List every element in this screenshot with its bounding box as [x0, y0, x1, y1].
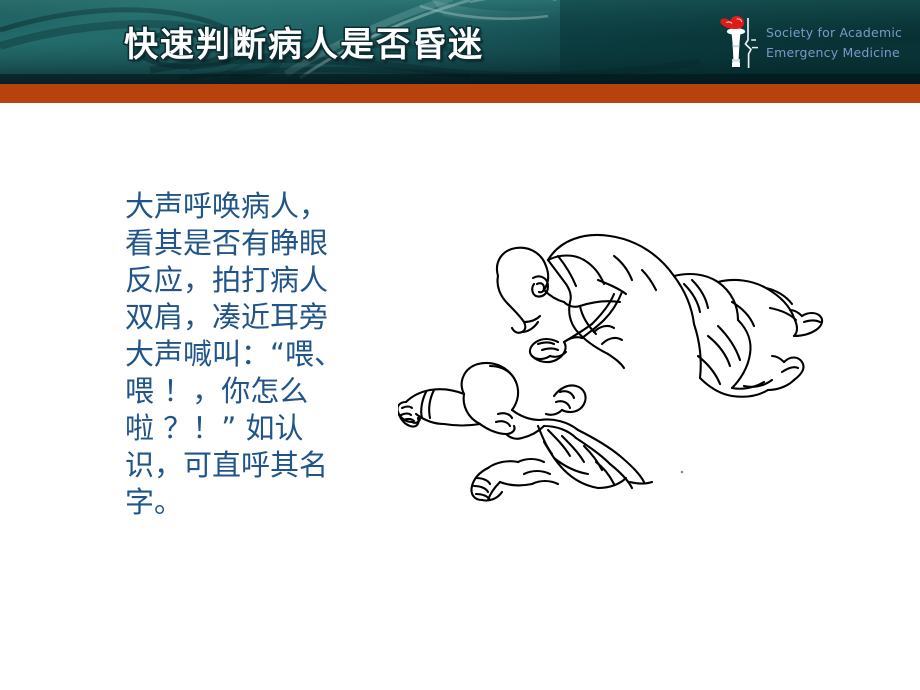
- logo-line-2: Emergency Medicine: [766, 43, 906, 63]
- slide-canvas: 快速判断病人是否昏迷 Society for Academic: [0, 0, 920, 690]
- logo-line-1: Society for Academic: [766, 23, 906, 43]
- body-line: 大声呼唤病人，: [125, 188, 347, 225]
- body-line: 字。: [125, 484, 347, 521]
- body-line: 反应，拍打病人: [125, 262, 347, 299]
- rescuer-line-art-svg: [398, 226, 834, 516]
- slide-header-band: 快速判断病人是否昏迷 Society for Academic: [0, 0, 920, 84]
- logo-wordmark: Society for Academic Emergency Medicine: [766, 23, 906, 63]
- body-line: 大声喊叫：“喂、: [125, 336, 347, 373]
- rescuer-checking-responsiveness-illustration: [398, 226, 834, 516]
- page-title: 快速判断病人是否昏迷: [124, 23, 684, 69]
- body-line: 双肩，凑近耳旁: [125, 299, 347, 336]
- torch-ecg-logo-icon: [706, 14, 766, 72]
- body-line: 识，可直呼其名: [125, 447, 347, 484]
- sael-logo: Society for Academic Emergency Medicine: [706, 14, 906, 72]
- header-accent-bar: [0, 84, 920, 103]
- slide-body-text: 大声呼唤病人， 看其是否有睁眼 反应，拍打病人 双肩，凑近耳旁 大声喊叫：“喂、…: [125, 188, 347, 521]
- body-line: 看其是否有睁眼: [125, 225, 347, 262]
- body-line: 喂 ！，你怎么: [125, 373, 347, 410]
- body-line: 啦 ？！” 如认: [125, 410, 347, 447]
